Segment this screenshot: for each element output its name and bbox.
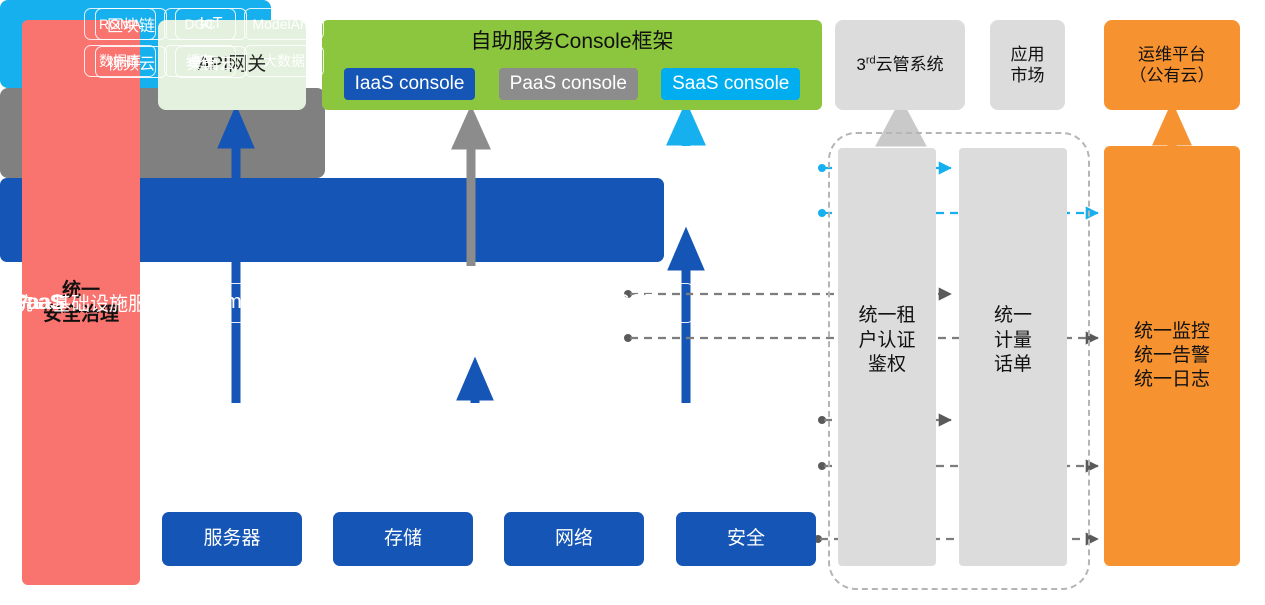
architecture-diagram: 统一租 户认证 鉴权 统一 计量 话单 统一 安全治理 API网关 自助服务Co…	[0, 0, 1265, 605]
infrastructure-label: 统一基础设施服务	[14, 289, 166, 316]
infra-cell-network[interactable]: Network	[446, 283, 562, 323]
hardware-security[interactable]: 安全	[676, 512, 816, 566]
unified-infrastructure-bar[interactable]: 统一基础设施服务 Compute Storage Network CCE	[0, 178, 664, 262]
infra-cell-storage[interactable]: Storage	[314, 283, 430, 323]
hardware-storage[interactable]: 存储	[333, 512, 473, 566]
hardware-server[interactable]: 服务器	[162, 512, 302, 566]
hardware-network[interactable]: 网络	[504, 512, 644, 566]
infra-cell-compute[interactable]: Compute	[182, 283, 298, 323]
infra-cell-cce[interactable]: CCE	[578, 283, 694, 323]
